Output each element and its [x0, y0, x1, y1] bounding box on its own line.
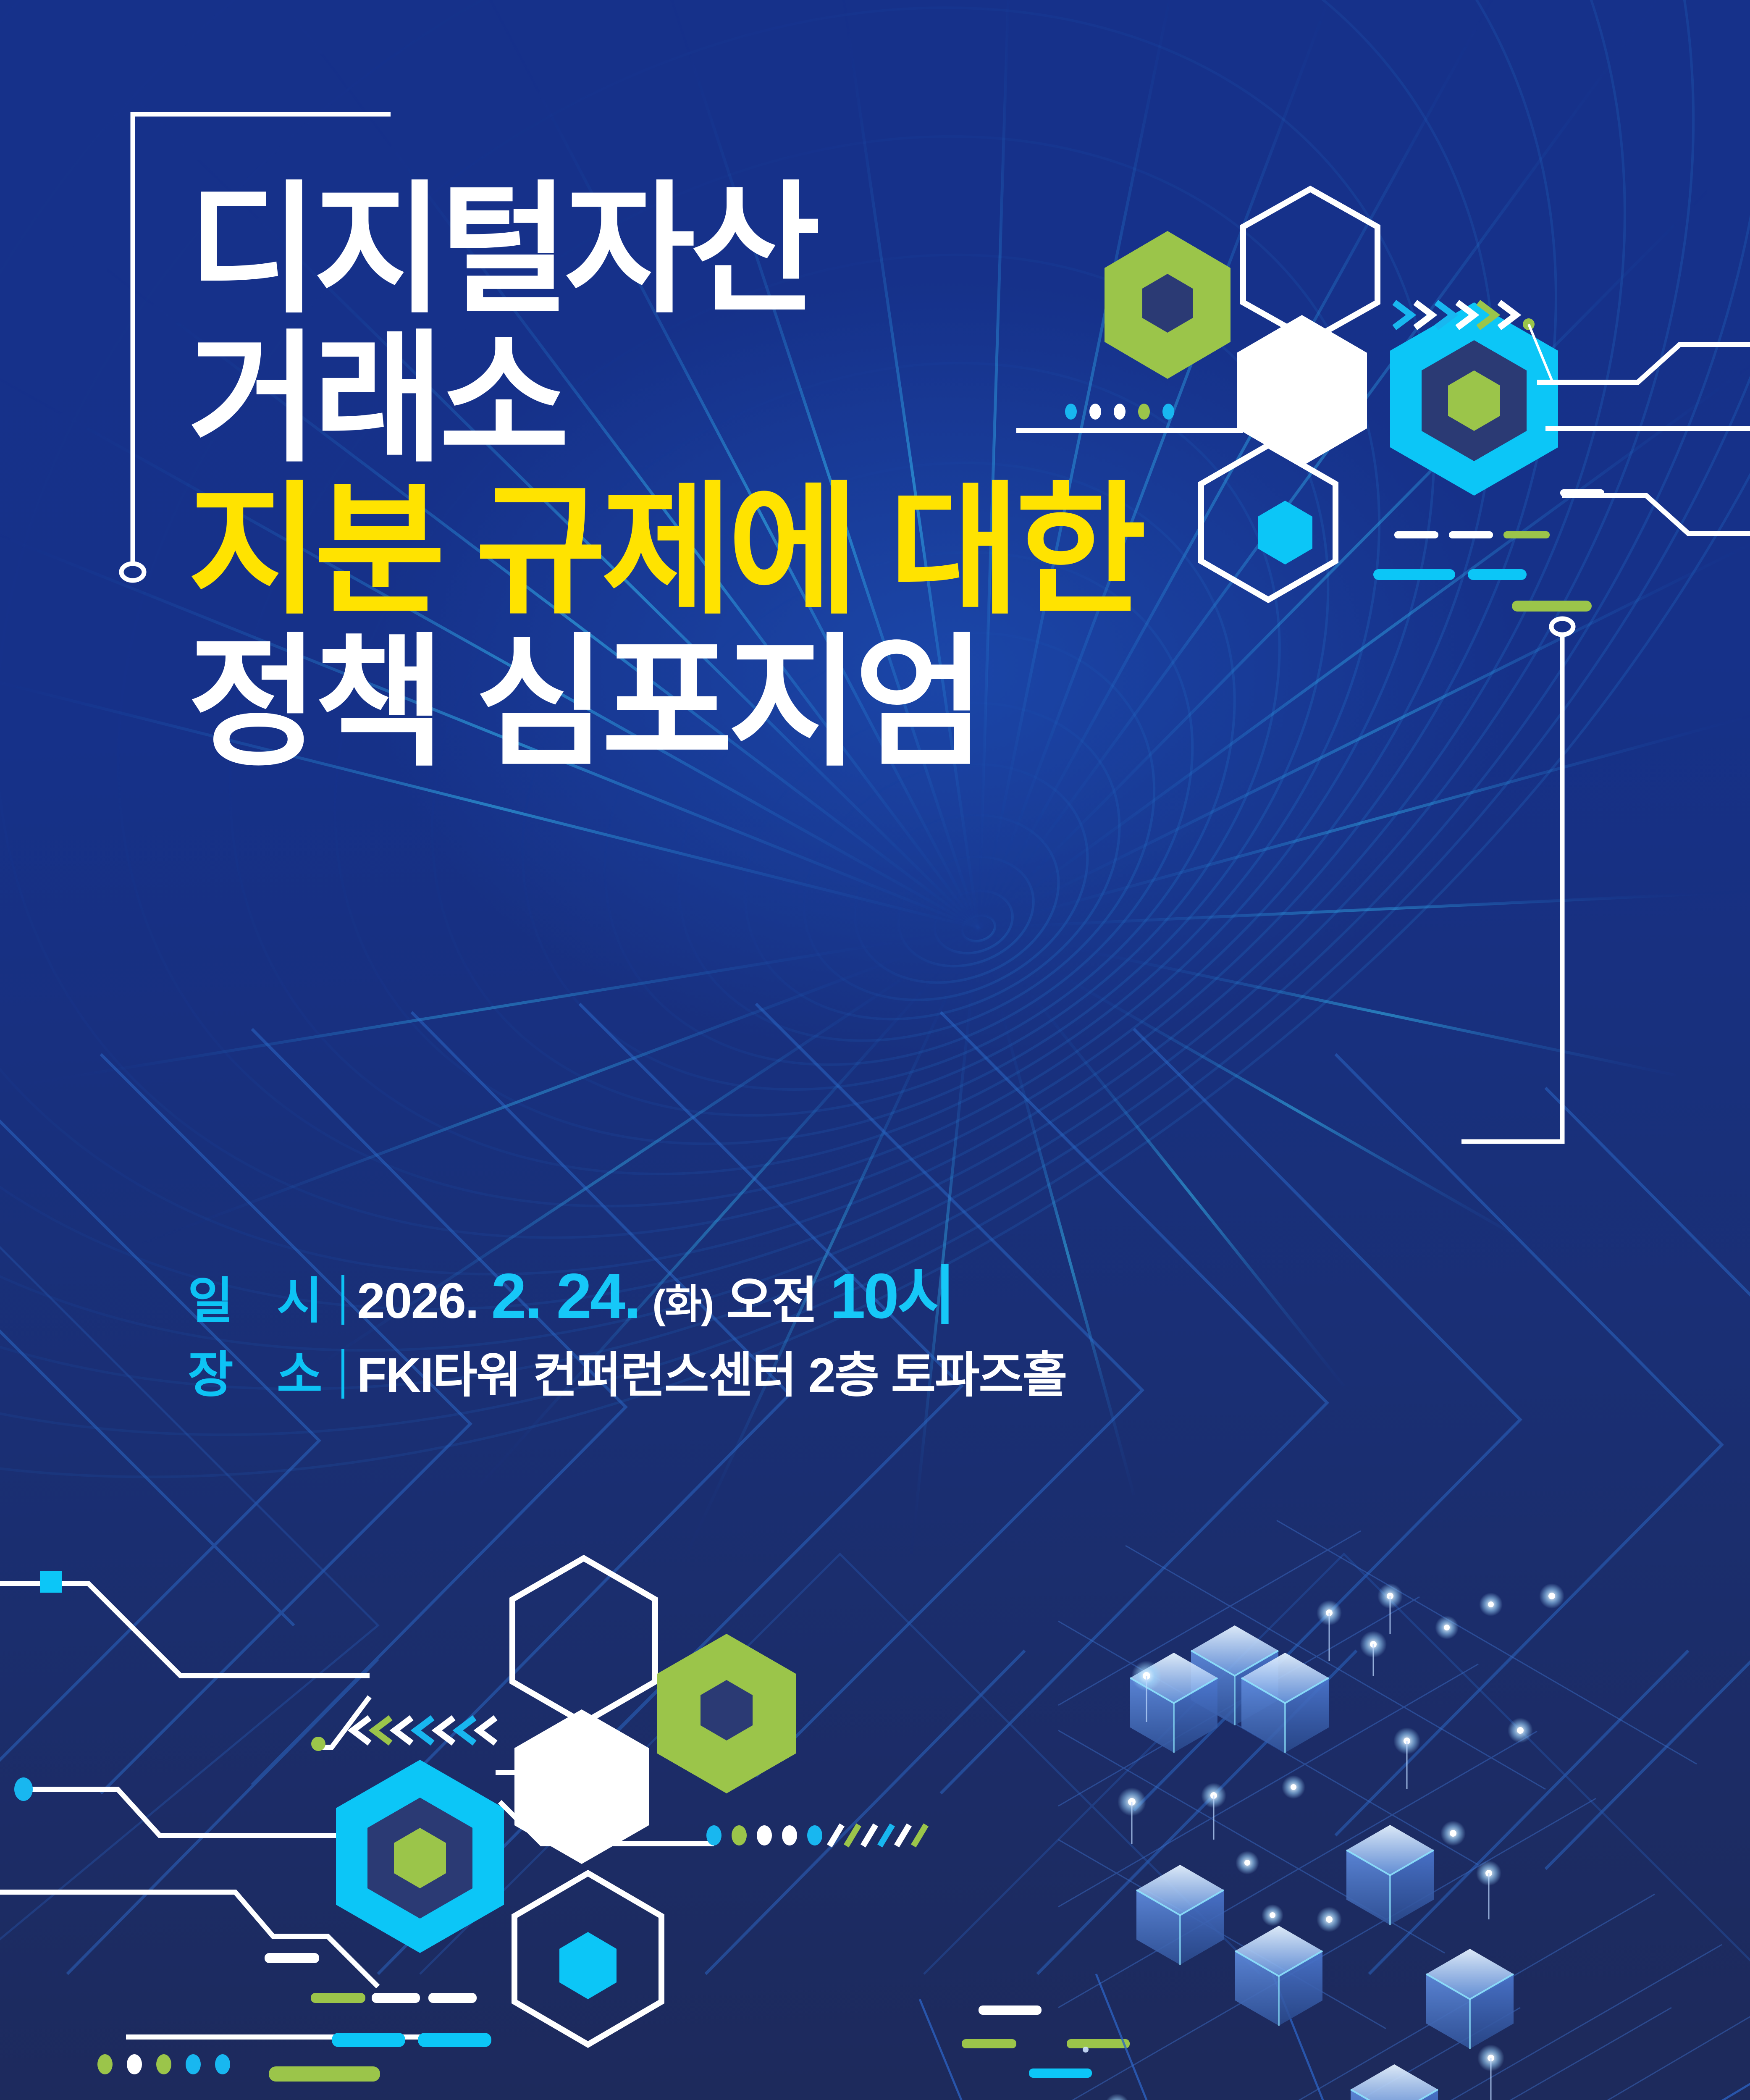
- poster-title: 디지털자산 거래소 지분 규제에 대한 정책 심포지엄: [188, 181, 1553, 773]
- date-year: 2026.: [357, 1273, 478, 1329]
- place-value: FKI타워 컨퍼런스센터 2층 토파즈홀: [357, 1351, 1066, 1399]
- date-month-day: 2. 24.: [491, 1260, 639, 1332]
- date-hour: 10시: [830, 1260, 954, 1332]
- date-separator-bar: [341, 1275, 344, 1325]
- poster-canvas: 디지털자산 거래소 지분 규제에 대한 정책 심포지엄 일 시 2026. 2.…: [0, 0, 1750, 2100]
- date-ampm: 오전: [726, 1273, 817, 1329]
- place-label: 장 소: [188, 1350, 340, 1400]
- event-date-row: 일 시 2026. 2. 24. (화) 오전 10시: [188, 1264, 1574, 1328]
- title-line-4: 정책 심포지엄: [188, 633, 1553, 773]
- title-line-3: 지분 규제에 대한: [188, 481, 1553, 621]
- title-line-1: 디지털자산: [188, 181, 1553, 320]
- date-weekday: (화): [652, 1282, 713, 1327]
- date-label: 일 시: [188, 1276, 340, 1326]
- event-place-row: 장 소 FKI타워 컨퍼런스센터 2층 토파즈홀: [188, 1342, 1574, 1400]
- place-separator-bar: [341, 1349, 344, 1399]
- event-info: 일 시 2026. 2. 24. (화) 오전 10시 장 소 FKI타워 컨퍼…: [188, 1264, 1574, 1414]
- title-line-2: 거래소: [188, 330, 1553, 469]
- date-value: 2026. 2. 24. (화) 오전 10시: [357, 1264, 954, 1328]
